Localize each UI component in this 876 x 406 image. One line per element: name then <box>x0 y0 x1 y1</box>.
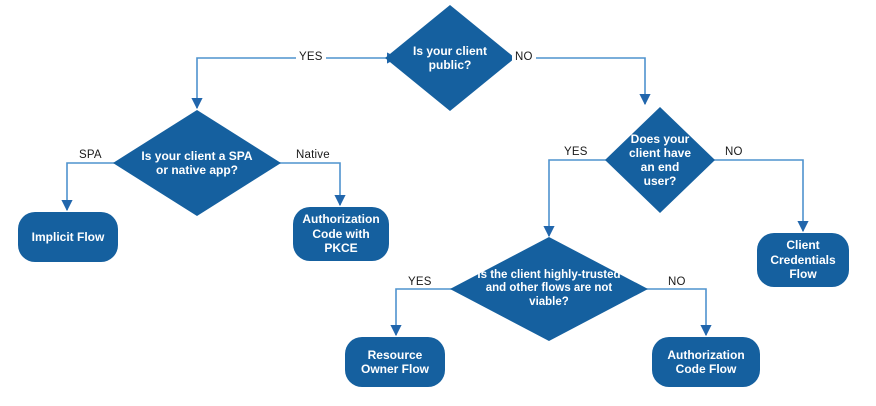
edge-label-spa: SPA <box>76 149 105 161</box>
edge-label-end-user-yes: YES <box>561 146 591 158</box>
edge-label-trusted-yes: YES <box>405 276 435 288</box>
outcome-auth-code-flow[interactable]: Authorization Code Flow <box>652 337 760 387</box>
decision-is-spa-or-native[interactable]: Is your client a SPA or native app? <box>113 110 281 216</box>
outcome-implicit-flow[interactable]: Implicit Flow <box>18 212 118 262</box>
edge-label-native: Native <box>293 149 333 161</box>
outcome-resource-owner-flow[interactable]: Resource Owner Flow <box>345 337 445 387</box>
edge-public-yes <box>197 58 397 108</box>
flowchart-canvas: Is your client public? Is your client a … <box>0 0 876 406</box>
decision-is-highly-trusted[interactable]: Is the client highly-trusted and other f… <box>450 237 648 341</box>
outcome-label: Resource Owner Flow <box>354 348 436 377</box>
edge-end-user-no <box>713 160 803 231</box>
outcome-label: Client Credentials Flow <box>764 238 842 281</box>
decision-label: Does your client have an end user? <box>618 132 702 189</box>
outcome-label: Authorization Code with PKCE <box>299 212 383 255</box>
outcome-client-credentials-flow[interactable]: Client Credentials Flow <box>757 233 849 287</box>
outcome-label: Authorization Code Flow <box>659 348 753 377</box>
edge-label-public-yes: YES <box>296 51 326 63</box>
edge-spa <box>67 163 115 210</box>
edge-trusted-no <box>646 289 706 335</box>
edge-end-user-yes <box>549 160 607 236</box>
edge-public-no <box>503 58 645 104</box>
decision-label: Is your client a SPA or native app? <box>131 149 263 177</box>
edge-label-public-no: NO <box>512 51 536 63</box>
decision-has-end-user[interactable]: Does your client have an end user? <box>605 107 715 213</box>
decision-label: Is the client highly-trusted and other f… <box>468 269 630 310</box>
decision-is-client-public[interactable]: Is your client public? <box>385 5 515 111</box>
edge-label-trusted-no: NO <box>665 276 689 288</box>
edge-native <box>279 163 340 205</box>
outcome-auth-code-with-pkce[interactable]: Authorization Code with PKCE <box>293 207 389 261</box>
decision-label: Is your client public? <box>403 44 497 72</box>
edge-label-end-user-no: NO <box>722 146 746 158</box>
edge-trusted-yes <box>396 289 452 335</box>
outcome-label: Implicit Flow <box>32 230 105 244</box>
